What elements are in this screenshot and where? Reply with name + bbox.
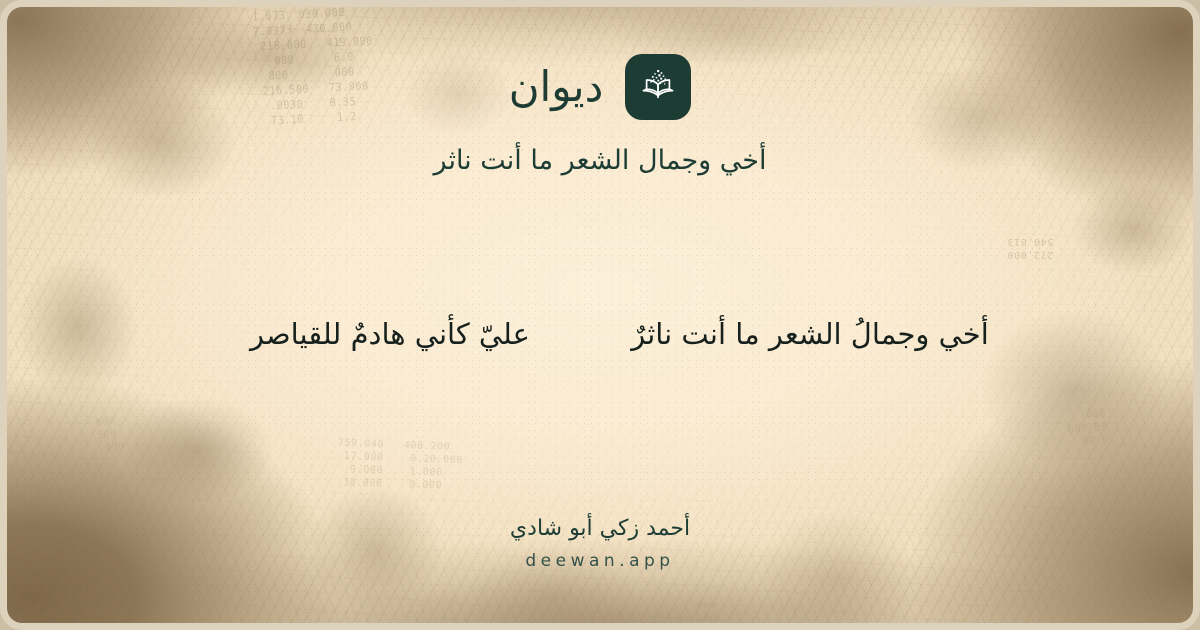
hemistich-second: عليّ كأني هادمٌ للقياصر [180,313,600,357]
brand-name: ديوان [509,66,604,108]
site-domain: deewan.app [525,551,674,571]
poem-title: أخي وجمال الشعر ما أنت ناثر [434,143,767,179]
verse-line: أخي وجمالُ الشعر ما أنت ناثرٌ عليّ كأني … [7,313,1193,357]
hemistich-first: أخي وجمالُ الشعر ما أنت ناثرٌ [600,313,1020,357]
poet-name: أحمد زكي أبو شادي [510,516,690,542]
card-content: ديوان أخي وجمال الشعر ما أنت ناثر أخي وج… [7,7,1193,623]
card-footer: أحمد زكي أبو شادي deewan.app [7,516,1193,571]
brand-header: ديوان [509,54,692,120]
open-book-with-sparkles-icon [625,54,691,120]
poem-share-card: 1.073 030.000 7.0373 430.000 218.000 419… [0,0,1200,630]
